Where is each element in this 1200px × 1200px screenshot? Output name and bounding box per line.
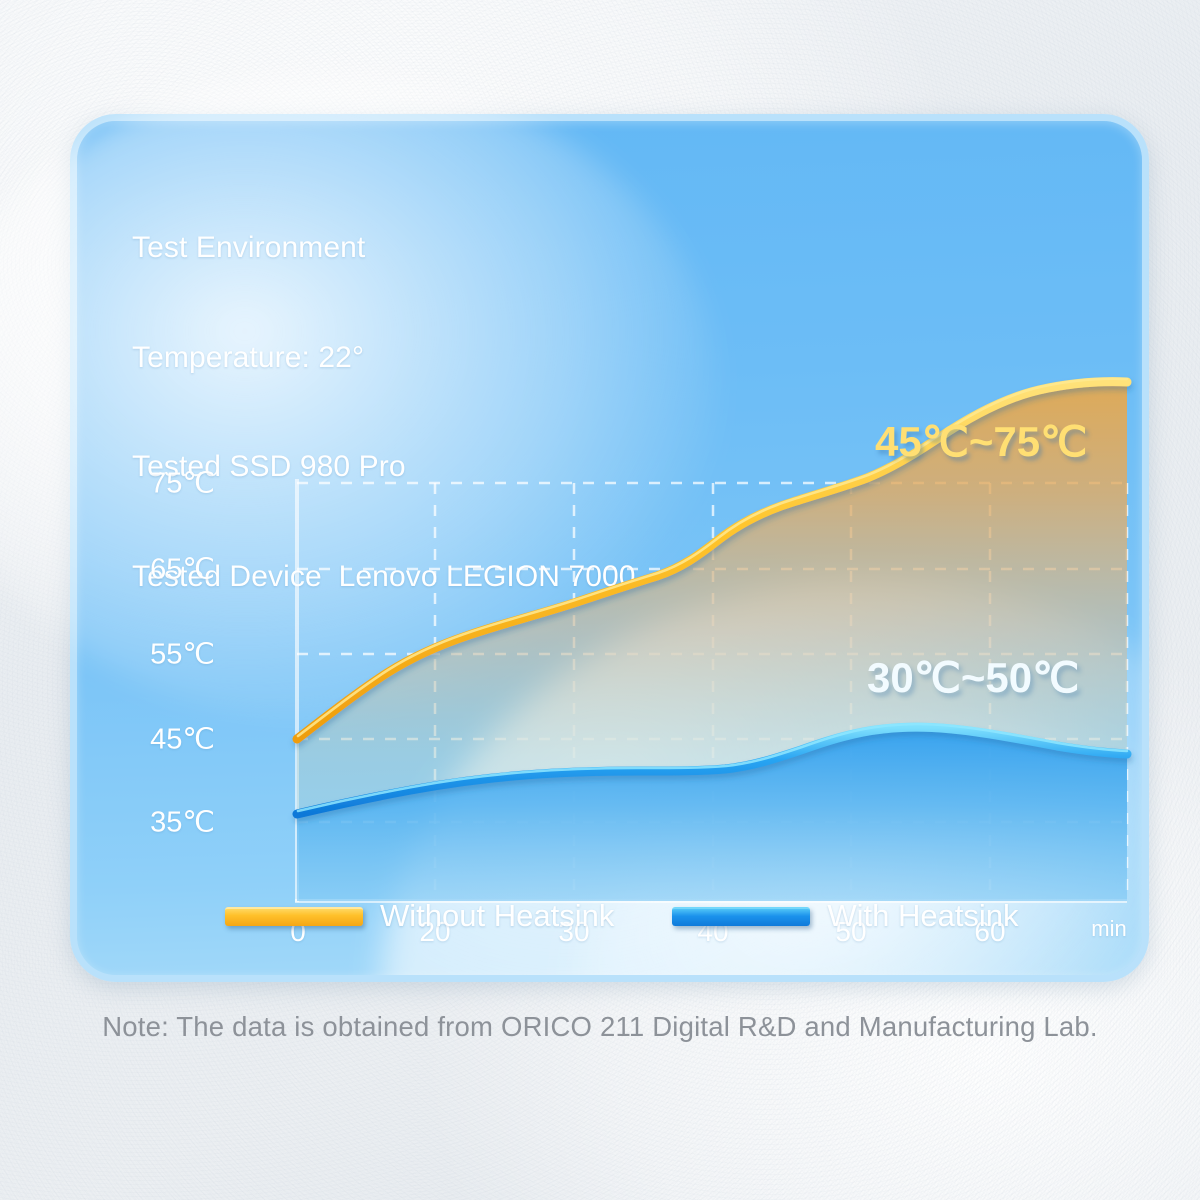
y-axis-labels: 75℃ 65℃ 55℃ 45℃ 35℃ (125, 121, 215, 975)
legend-label-with-heatsink: With Heatsink (827, 898, 1018, 934)
y-tick-55: 55℃ (125, 637, 215, 672)
legend-swatch-without-heatsink (225, 907, 363, 926)
legend-label-without-heatsink: Without Heatsink (380, 898, 614, 934)
legend-swatch-with-heatsink (672, 907, 810, 926)
chart-card: Test Environment Temperature: 22° Tested… (70, 114, 1149, 982)
chart-legend: Without Heatsink With Heatsink (77, 886, 1142, 946)
footer-note: Note: The data is obtained from ORICO 21… (0, 1011, 1200, 1043)
y-tick-45: 45℃ (125, 722, 215, 757)
page-background: Test Environment Temperature: 22° Tested… (0, 0, 1200, 1200)
temperature-chart: 75℃ 65℃ 55℃ 45℃ 35℃ 0 20 30 40 50 60 min (77, 121, 1142, 975)
y-tick-75: 75℃ (125, 466, 215, 501)
callout-without-heatsink-range: 45℃~75℃ (875, 417, 1087, 466)
legend-item-without-heatsink[interactable]: Without Heatsink (225, 898, 614, 934)
legend-item-with-heatsink[interactable]: With Heatsink (672, 898, 1018, 934)
y-tick-35: 35℃ (125, 805, 215, 840)
y-tick-65: 65℃ (125, 552, 215, 587)
chart-svg (77, 121, 1142, 975)
callout-with-heatsink-range: 30℃~50℃ (867, 653, 1079, 702)
